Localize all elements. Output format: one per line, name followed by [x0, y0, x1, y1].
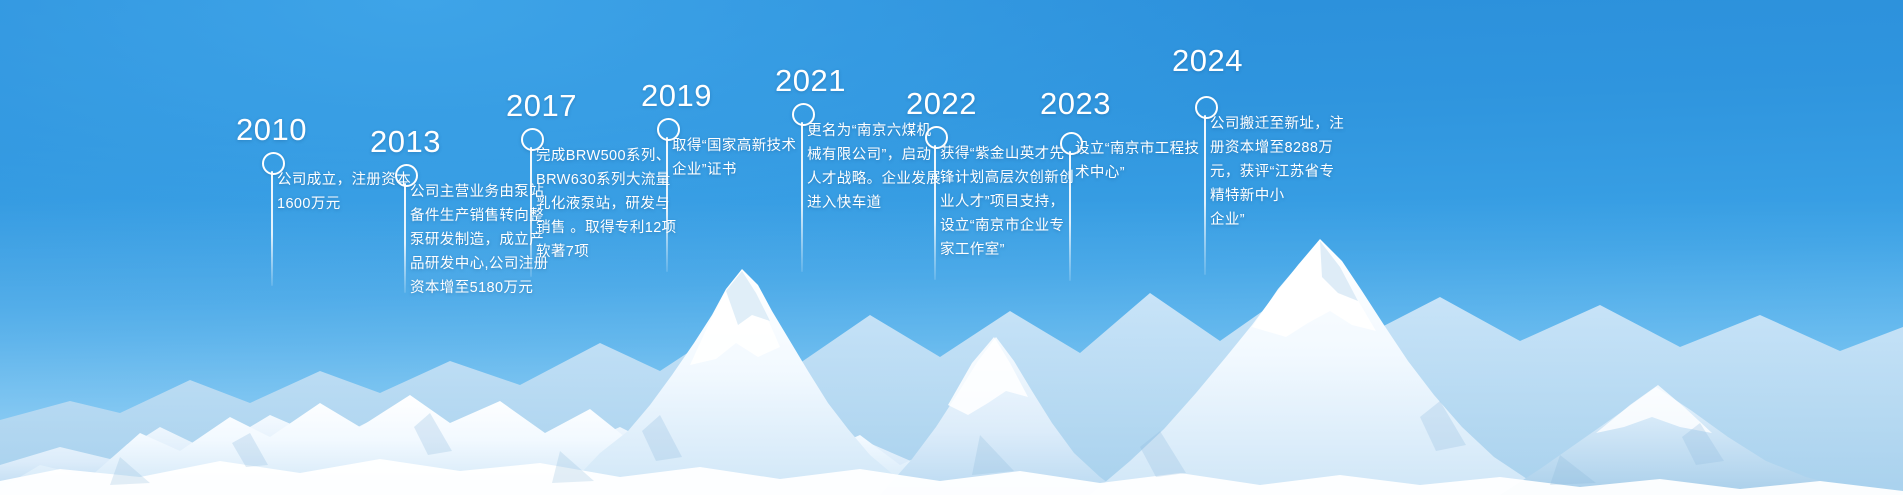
- milestone-stem-2023: [1069, 151, 1071, 281]
- milestone-description-2024: 公司搬迁至新址，注 册资本增至8288万 元，获评“江苏省专 精特新中小 企业”: [1210, 112, 1370, 232]
- milestone-description-2019: 取得“国家高新技术 企业”证书: [672, 134, 827, 182]
- milestone-stem-2024: [1204, 115, 1206, 275]
- milestone-stem-2021: [801, 122, 803, 272]
- milestone-stem-2022: [934, 145, 936, 280]
- milestone-stem-2013: [404, 183, 406, 293]
- milestone-stem-2010: [271, 171, 273, 286]
- timeline-track: 2010 公司成立，注册资本 1600万元 2013 公司主营业务由泵站 备件生…: [0, 0, 1903, 495]
- milestone-description-2023: 设立“南京市工程技 术中心”: [1075, 137, 1230, 185]
- milestone-year-2023: 2023: [1040, 88, 1111, 119]
- milestone-year-2021: 2021: [775, 65, 846, 96]
- milestone-year-2022: 2022: [906, 88, 977, 119]
- milestone-year-2019: 2019: [641, 80, 712, 111]
- milestone-stem-2019: [666, 137, 668, 272]
- milestone-year-2013: 2013: [370, 126, 441, 157]
- milestone-year-2010: 2010: [236, 114, 307, 145]
- timeline-infographic: 2010 公司成立，注册资本 1600万元 2013 公司主营业务由泵站 备件生…: [0, 0, 1903, 495]
- milestone-year-2024: 2024: [1172, 45, 1243, 76]
- milestone-stem-2017: [530, 147, 532, 277]
- milestone-year-2017: 2017: [506, 90, 577, 121]
